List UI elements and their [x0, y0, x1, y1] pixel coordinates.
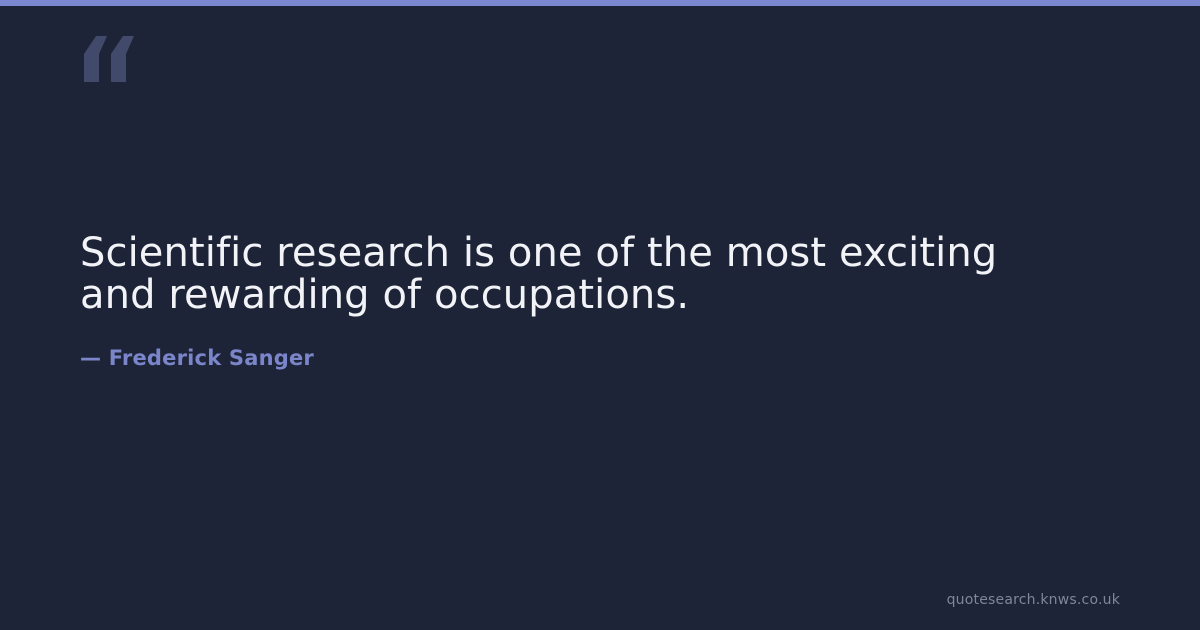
top-accent-bar [0, 0, 1200, 6]
left-double-quotation-mark-icon [80, 36, 140, 82]
quote-content: Scientific research is one of the most e… [80, 232, 1080, 370]
attribution-dash: — [80, 346, 101, 370]
footer-source-url: quotesearch.knws.co.uk [947, 592, 1120, 608]
attribution-author-name: Frederick Sanger [101, 346, 314, 370]
quote-text: Scientific research is one of the most e… [80, 232, 1030, 316]
quote-card: Scientific research is one of the most e… [0, 0, 1200, 630]
quote-attribution: — Frederick Sanger [80, 316, 1080, 370]
